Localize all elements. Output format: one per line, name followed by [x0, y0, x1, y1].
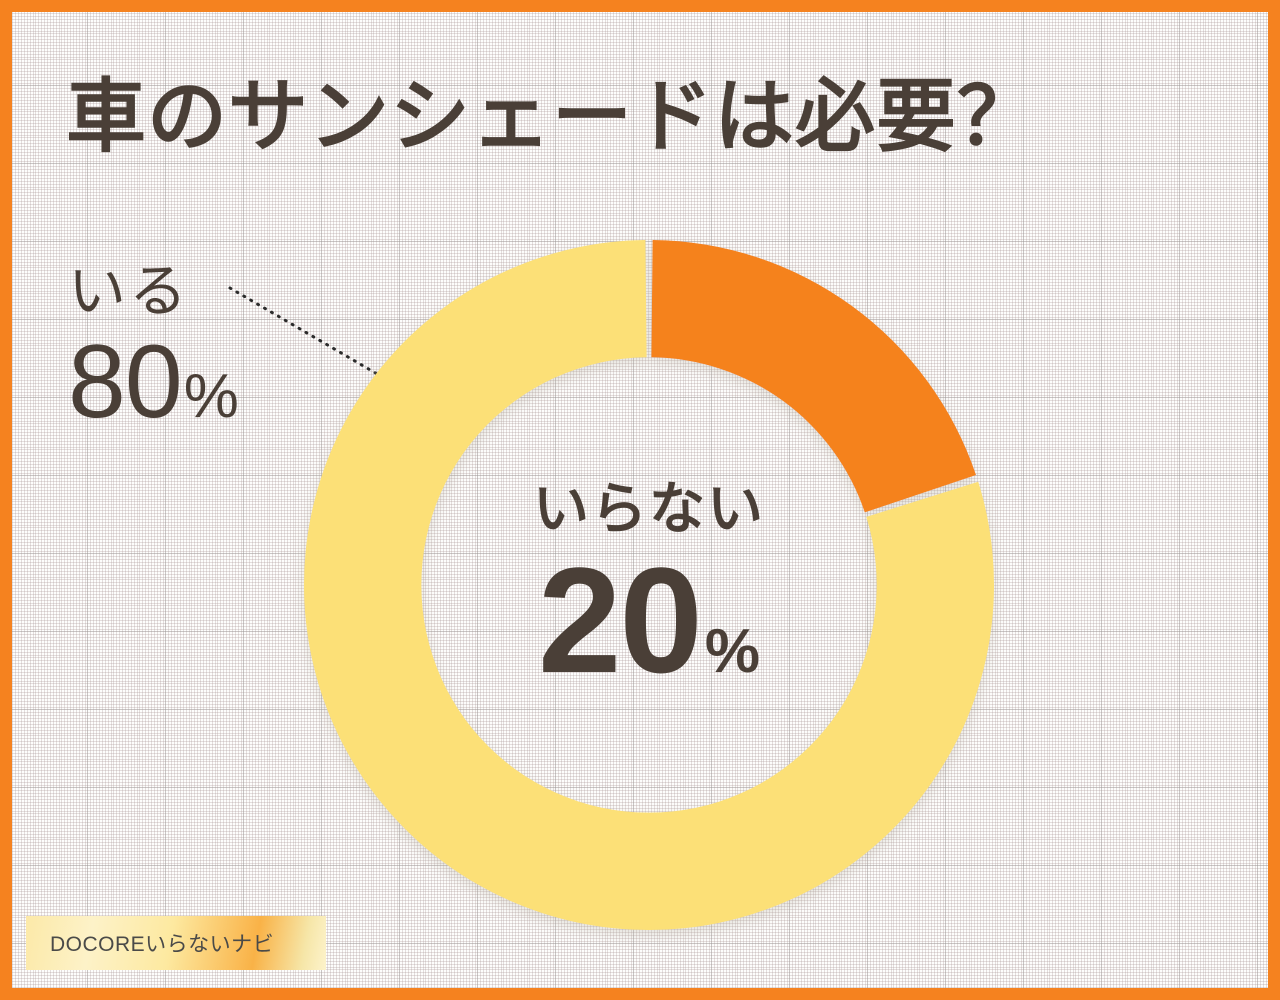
slice-label-iru-value: 80 %: [68, 330, 239, 434]
page-title: 車のサンシェードは必要？: [66, 74, 1226, 160]
slice-label-iru: いる 80 %: [68, 260, 239, 434]
donut-chart: いらない 20 %: [292, 228, 1006, 942]
infographic-canvas: 車のサンシェードは必要？ いる 80 % いらない: [0, 0, 1280, 1000]
donut-chart-svg: [292, 228, 1006, 942]
brand-badge: DOCOREいらないナビ: [26, 916, 326, 970]
slice-label-iru-percent: %: [184, 361, 239, 432]
slice-label-iru-name: いる: [68, 260, 239, 324]
donut-slice-iranai[interactable]: [651, 240, 976, 512]
slice-label-iru-number: 80: [68, 330, 182, 434]
brand-badge-label: DOCOREいらないナビ: [50, 928, 274, 958]
